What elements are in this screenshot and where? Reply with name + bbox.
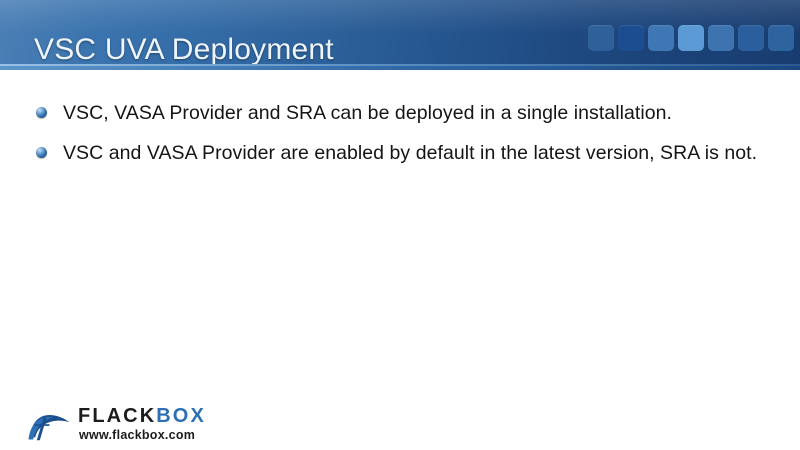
slide-canvas: VSC UVA Deployment VSC, VASA Provider an… bbox=[0, 0, 800, 450]
bullet-text: VSC and VASA Provider are enabled by def… bbox=[63, 138, 764, 169]
sphere-bullet-icon bbox=[36, 107, 47, 118]
deco-square-4 bbox=[678, 25, 704, 51]
logo-wordmark-flack: FLACK bbox=[78, 405, 156, 427]
deco-square-1 bbox=[588, 25, 614, 51]
list-item: VSC, VASA Provider and SRA can be deploy… bbox=[36, 98, 764, 129]
deco-square-2 bbox=[618, 25, 644, 51]
deco-square-3 bbox=[648, 25, 674, 51]
bullet-list: VSC, VASA Provider and SRA can be deploy… bbox=[36, 98, 764, 178]
list-item: VSC and VASA Provider are enabled by def… bbox=[36, 138, 764, 169]
deco-square-6 bbox=[738, 25, 764, 51]
flackbox-swoosh-icon bbox=[26, 406, 72, 442]
header-underline-highlight bbox=[0, 64, 800, 66]
header-decoration-squares bbox=[588, 25, 800, 51]
logo-wordmark: FLACKBOX bbox=[78, 405, 206, 427]
deco-square-5 bbox=[708, 25, 734, 51]
sphere-bullet-icon bbox=[36, 147, 47, 158]
logo-url: www.flackbox.com bbox=[79, 428, 195, 442]
bullet-text: VSC, VASA Provider and SRA can be deploy… bbox=[63, 98, 764, 129]
logo-wordmark-box: BOX bbox=[156, 405, 206, 427]
page-title: VSC UVA Deployment bbox=[34, 33, 334, 67]
flackbox-logo: FLACKBOX www.flackbox.com bbox=[26, 404, 216, 446]
deco-square-7 bbox=[768, 25, 794, 51]
slide-header: VSC UVA Deployment bbox=[0, 0, 800, 70]
